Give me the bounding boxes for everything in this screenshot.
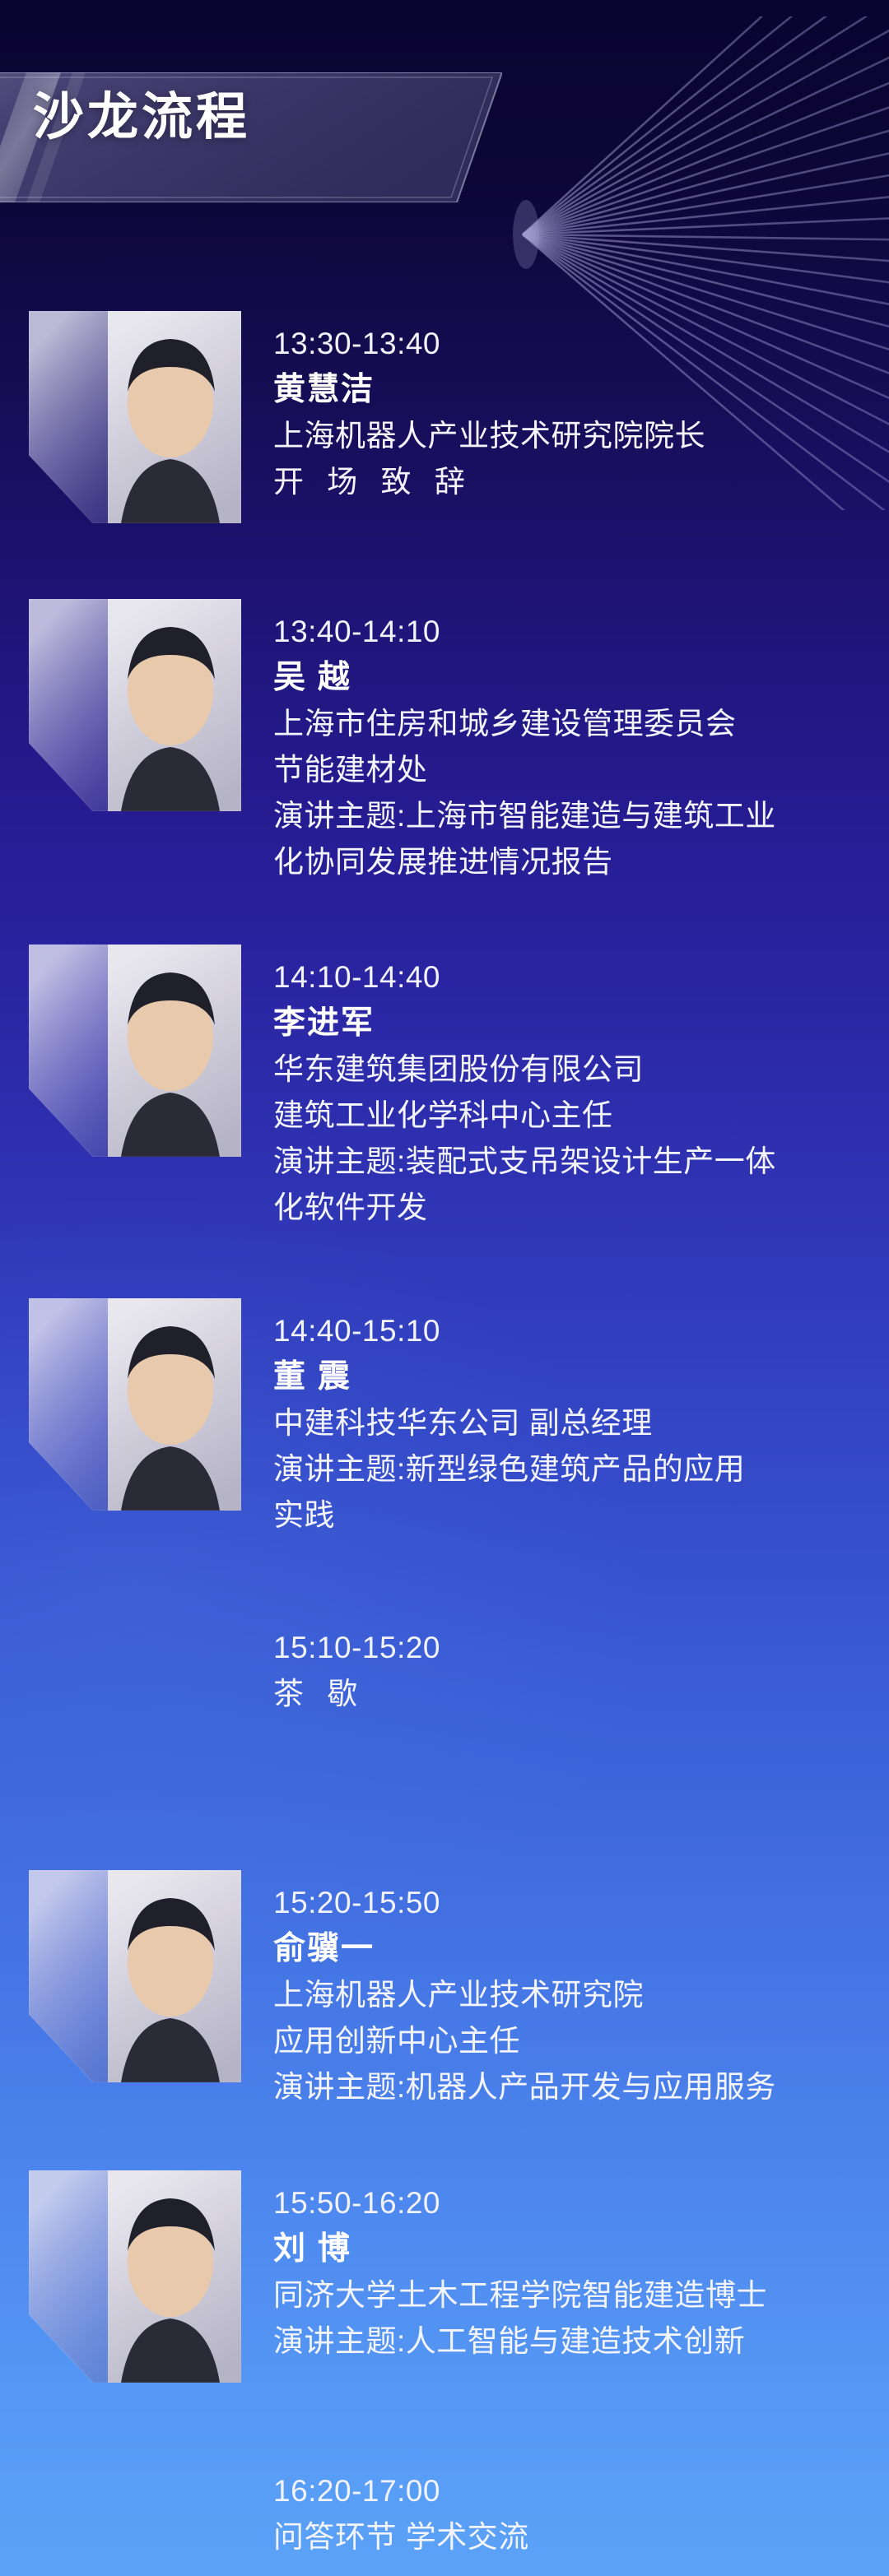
schedule-time: 16:20-17:00: [273, 2468, 849, 2514]
schedule-time: 15:10-15:20: [273, 1625, 849, 1671]
schedule-time: 14:40-15:10: [273, 1308, 849, 1354]
speaker-name: 刘 博: [273, 2226, 849, 2272]
session-topic: 演讲主题:上海市智能建造与建筑工业: [273, 793, 849, 839]
session-topic: 问答环节 学术交流: [273, 2514, 849, 2560]
speaker-affiliation: 上海机器人产业技术研究院: [273, 1972, 849, 2018]
speaker-name: 俞骥一: [273, 1926, 849, 1972]
header: 沙龙流程: [0, 0, 889, 272]
speaker-name: 黄慧洁: [273, 367, 849, 413]
speaker-portrait: [29, 2170, 241, 2383]
schedule-entry-text: 15:20-15:50俞骥一上海机器人产业技术研究院应用创新中心主任演讲主题:机…: [273, 1880, 849, 2110]
speaker-name: 董 震: [273, 1354, 849, 1400]
speaker-affiliation: 上海机器人产业技术研究院院长: [273, 413, 849, 459]
schedule-time: 13:30-13:40: [273, 321, 849, 367]
session-topic: 茶 歇: [273, 1671, 849, 1717]
speaker-portrait: [29, 1870, 241, 2082]
schedule-entry-text: 13:30-13:40黄慧洁上海机器人产业技术研究院院长开 场 致 辞: [273, 321, 849, 505]
speaker-affiliation: 华东建筑集团股份有限公司: [273, 1047, 849, 1093]
schedule-time: 15:50-16:20: [273, 2180, 849, 2226]
schedule-time: 14:10-14:40: [273, 954, 849, 1000]
session-topic-cont: 化软件开发: [273, 1185, 849, 1231]
schedule-entry-text: 14:40-15:10董 震中建科技华东公司 副总经理演讲主题:新型绿色建筑产品…: [273, 1308, 849, 1539]
speaker-name: 李进军: [273, 1000, 849, 1047]
schedule-entry-text: 16:20-17:00问答环节 学术交流: [273, 2468, 849, 2560]
speaker-affiliation: 应用创新中心主任: [273, 2018, 849, 2064]
page-title: 沙龙流程: [33, 91, 250, 144]
speaker-affiliation: 建筑工业化学科中心主任: [273, 1093, 849, 1139]
schedule-time: 13:40-14:10: [273, 609, 849, 655]
speaker-portrait: [29, 1298, 241, 1511]
speaker-affiliation: 同济大学土木工程学院智能建造博士: [273, 2272, 849, 2318]
session-topic: 演讲主题:新型绿色建筑产品的应用: [273, 1446, 849, 1492]
schedule-time: 15:20-15:50: [273, 1880, 849, 1926]
schedule-entry-text: 15:50-16:20刘 博同济大学土木工程学院智能建造博士演讲主题:人工智能与…: [273, 2180, 849, 2365]
session-topic: 演讲主题:机器人产品开发与应用服务: [273, 2064, 849, 2110]
session-topic-cont: 化协同发展推进情况报告: [273, 839, 849, 885]
schedule-entry-text: 14:10-14:40李进军华东建筑集团股份有限公司建筑工业化学科中心主任演讲主…: [273, 954, 849, 1231]
speaker-portrait: [29, 311, 241, 523]
speaker-portrait: [29, 945, 241, 1157]
speaker-affiliation: 上海市住房和城乡建设管理委员会: [273, 701, 849, 747]
session-topic: 演讲主题:装配式支吊架设计生产一体: [273, 1139, 849, 1185]
session-topic-cont: 实践: [273, 1492, 849, 1539]
schedule-entry-text: 15:10-15:20茶 歇: [273, 1625, 849, 1717]
speaker-name: 吴 越: [273, 655, 849, 701]
speaker-affiliation: 节能建材处: [273, 747, 849, 793]
session-topic: 开 场 致 辞: [273, 459, 849, 505]
speaker-affiliation: 中建科技华东公司 副总经理: [273, 1400, 849, 1446]
schedule-entry-text: 13:40-14:10吴 越上海市住房和城乡建设管理委员会节能建材处演讲主题:上…: [273, 609, 849, 885]
session-topic: 演讲主题:人工智能与建造技术创新: [273, 2318, 849, 2365]
speaker-portrait: [29, 599, 241, 811]
